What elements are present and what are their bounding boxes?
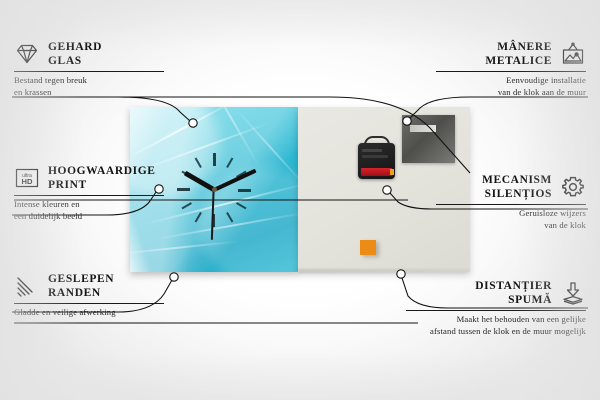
feature-title: MÂNERE METALICE [485,40,552,68]
svg-text:HD: HD [22,177,33,186]
gear-icon [560,174,586,200]
feature-title: HOOGWAARDIGE PRINT [48,164,156,192]
framed-picture-icon [560,41,586,67]
feature-description: Maakt het behouden van een gelijke afsta… [406,314,586,337]
product-photo [130,107,470,272]
ground-edges-icon [14,273,40,299]
clock-center-pin [212,187,217,192]
feature-mechanism: MECANISM SILENȚIOS Geruisloze wijzers va… [436,173,586,231]
feature-glass: GEHARD GLAS Bestand tegen breuk en krass… [14,40,164,98]
feature-edges: GESLEPEN RANDEN Gladde en veilige afwerk… [14,272,164,319]
ultra-hd-icon: ultra HD [14,165,40,191]
feature-print: ultra HD HOOGWAARDIGE PRINT Intense kleu… [14,164,164,222]
infographic-canvas: GEHARD GLAS Bestand tegen breuk en krass… [0,0,600,400]
metal-handle-detail [402,115,455,163]
feature-title: GEHARD GLAS [48,40,102,68]
feature-title: GESLEPEN RANDEN [48,272,114,300]
feature-description: Geruisloze wijzers van de klok [436,208,586,231]
feature-spacer: DISTANȚIER SPUMĂ Maakt het behouden van … [406,279,586,337]
diamond-icon [14,41,40,67]
feature-description: Gladde en veilige afwerking [14,307,164,319]
divider [436,71,586,72]
press-down-arrow-icon [560,280,586,306]
battery [361,168,392,176]
clock-movement-box [358,143,395,179]
feature-handles: MÂNERE METALICE Eenvoudige installatie v… [436,40,586,98]
leader-endpoint [170,273,178,281]
feature-title: MECANISM SILENȚIOS [482,173,552,201]
divider [436,204,586,205]
feature-description: Eenvoudige installatie van de klok aan d… [436,75,586,98]
divider [14,303,164,304]
divider [14,195,164,196]
feature-description: Bestand tegen breuk en krassen [14,75,164,98]
divider [406,310,586,311]
feature-description: Intense kleuren en een duidelijk beeld [14,199,164,222]
foam-spacer [360,240,376,255]
feature-title: DISTANȚIER SPUMĂ [475,279,552,307]
divider [14,71,164,72]
